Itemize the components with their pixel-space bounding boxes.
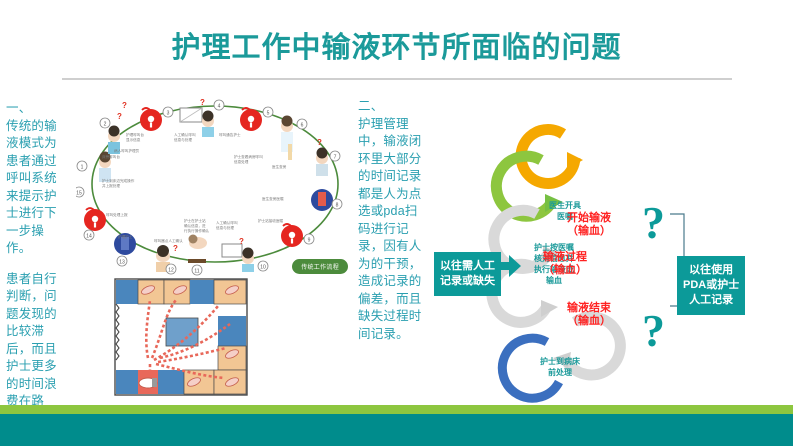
svg-text:5: 5	[267, 111, 270, 117]
middle-text-column: 二、 护理管理中，输液闭环里大部分的时间记录都是人为点选或pda扫码进行记录，因…	[358, 98, 424, 343]
svg-text:护理呼叫台: 护理呼叫台	[126, 132, 144, 137]
title-divider	[62, 78, 732, 80]
floor-plan-svg	[114, 278, 248, 396]
svg-text:床旁呼叫台: 床旁呼叫台	[102, 154, 120, 159]
svg-text:医生查房: 医生查房	[272, 164, 287, 169]
slide-canvas: 护理工作中输液环节所面临的问题 一、 传统的输液模式为患者通过呼叫系统来提示护士…	[0, 0, 793, 446]
workflow-svg: 1 ? 2 ? 3	[76, 96, 354, 276]
workflow-node-4: ? 4	[180, 98, 224, 137]
middle-column-paragraph-1: 护理管理中，输液闭环里大部分的时间记录都是人为点选或pda扫码进行记录，因有人为…	[358, 116, 424, 344]
footer-teal-band	[0, 414, 793, 446]
svg-text:4: 4	[218, 104, 221, 110]
traditional-workflow-diagram: 1 ? 2 ? 3	[76, 96, 354, 276]
svg-text:7: 7	[334, 155, 337, 161]
workflow-node-6: 6	[281, 116, 307, 161]
left-column-paragraph-1: 传统的输液模式为患者通过呼叫系统来提示护士进行下一步操作。	[6, 118, 68, 258]
svg-text:护士到床边完成操作: 护士到床边完成操作	[102, 178, 135, 183]
workflow-node-2: ? 2	[100, 112, 122, 154]
workflow-micro-captions: 病人呼叫护理员 护理呼叫台 显示信息 人工确认呼叫 信息与处理 呼叫通告护士 护…	[102, 132, 287, 243]
svg-text:2: 2	[104, 122, 107, 128]
svg-text:病人呼叫护理员: 病人呼叫护理员	[114, 148, 140, 153]
middle-column-index: 二、	[358, 98, 424, 116]
svg-text:8: 8	[336, 203, 339, 209]
svg-text:11: 11	[194, 269, 199, 275]
svg-text:信息处理: 信息处理	[234, 159, 249, 164]
workflow-node-5: 5	[240, 107, 273, 131]
loop-label-infusion-process: 输液过程 （输血）	[525, 251, 605, 277]
workflow-node-12: ? 12	[156, 244, 178, 274]
svg-text:护士站接收医嘱: 护士站接收医嘱	[258, 218, 284, 223]
svg-text:呼叫处理上报: 呼叫处理上报	[106, 212, 128, 217]
question-mark-1: ?	[642, 200, 665, 246]
callout-left-manual-record: 以往需人工 记录或缺失	[434, 252, 501, 296]
svg-text:人工确认呼叫: 人工确认呼叫	[216, 220, 238, 225]
svg-text:9: 9	[308, 238, 311, 244]
infusion-closed-loop-diagram: 医生开具 医嘱 护士按医嘱 核对信息并 执行输液或 输血 开始输液 （输血） 输…	[425, 90, 793, 410]
workflow-node-15: 15	[76, 187, 84, 197]
svg-text:13: 13	[119, 260, 125, 266]
svg-text:护士查看病房呼叫: 护士查看病房呼叫	[234, 154, 263, 159]
loop-label-start-infusion: 开始输液 （输血）	[549, 212, 629, 238]
svg-text:信息与处理: 信息与处理	[174, 137, 192, 142]
svg-text:?: ?	[122, 101, 127, 110]
workflow-caption-pill: 传统工作流程	[292, 259, 348, 274]
svg-text:显示信息: 显示信息	[126, 137, 141, 142]
svg-text:10: 10	[260, 265, 266, 271]
svg-text:呼叫通告护士: 呼叫通告护士	[219, 132, 241, 137]
medical-cart	[139, 378, 157, 388]
svg-text:1: 1	[81, 165, 84, 171]
svg-text:3: 3	[167, 111, 170, 117]
left-column-index: 一、	[6, 100, 68, 118]
svg-text:护士在护士站: 护士在护士站	[184, 218, 206, 223]
ward-floor-plan	[114, 278, 248, 396]
loop-label-bedside: 护士到病床 前处理	[527, 356, 593, 378]
svg-text:并上报处理: 并上报处理	[102, 183, 120, 188]
svg-text:?: ?	[173, 244, 178, 253]
svg-text:信息与处理: 信息与处理	[216, 225, 234, 230]
left-text-column: 一、 传统的输液模式为患者通过呼叫系统来提示护士进行下一步操作。 患者自行判断，…	[6, 100, 68, 428]
svg-text:6: 6	[301, 123, 304, 129]
loop-label-infusion-end: 输液结束 （输血）	[549, 302, 629, 328]
workflow-node-10: ? 10	[222, 237, 268, 272]
callout-right-pda-record: 以往使用 PDA或护士 人工记录	[677, 256, 745, 315]
svg-text:护理护士: 护理护士	[118, 234, 133, 239]
svg-text:呼叫器点人工确认: 呼叫器点人工确认	[154, 238, 183, 243]
workflow-node-9: 9	[281, 224, 314, 247]
svg-text:行执行操作确认: 行执行操作确认	[184, 228, 210, 233]
svg-text:医生查房医嘱: 医生查房医嘱	[262, 196, 284, 201]
workflow-node-11: 11	[188, 235, 207, 276]
svg-text:人工确认呼叫: 人工确认呼叫	[174, 132, 196, 137]
svg-text:?: ?	[317, 138, 322, 147]
page-title: 护理工作中输液环节所面临的问题	[0, 24, 793, 66]
question-mark-2: ?	[642, 308, 665, 354]
svg-text:?: ?	[239, 237, 244, 246]
svg-text:14: 14	[86, 234, 92, 240]
svg-text:12: 12	[168, 268, 174, 274]
svg-text:?: ?	[117, 112, 122, 121]
workflow-node-14: 14	[84, 208, 106, 240]
svg-text:确认信息，进: 确认信息，进	[184, 223, 206, 228]
closed-loop-svg	[425, 90, 793, 410]
svg-text:?: ?	[200, 98, 205, 107]
footer-green-stripe	[0, 405, 793, 414]
svg-text:15: 15	[76, 191, 82, 197]
workflow-node-3: ? 3	[122, 101, 173, 131]
